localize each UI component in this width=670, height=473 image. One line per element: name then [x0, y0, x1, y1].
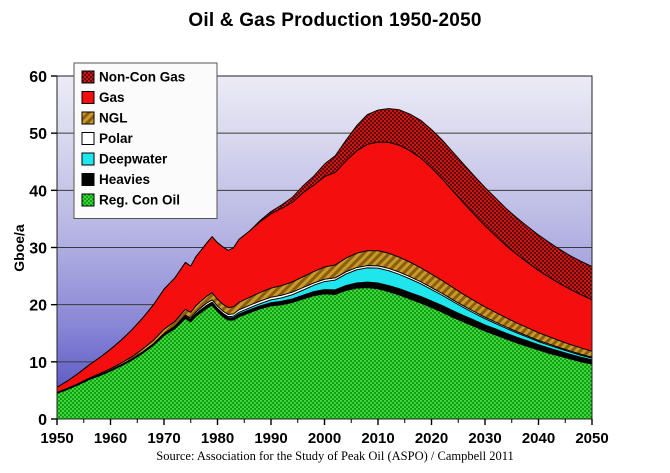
- x-axis-tick-label: 1990: [254, 430, 287, 447]
- legend-item[interactable]: Gas: [82, 90, 125, 105]
- y-axis-title: Gboe/a: [11, 224, 27, 272]
- legend-swatch-non-con-gas: [82, 71, 94, 83]
- y-axis-tick-label: 0: [38, 412, 47, 429]
- y-axis-tick-label: 20: [29, 298, 47, 315]
- x-axis-tick-label: 2000: [308, 430, 341, 447]
- plot-area: 0102030405060 19501960197019801990200020…: [0, 0, 670, 473]
- legend: Non-Con GasGasNGLPolarDeepwaterHeaviesRe…: [74, 63, 217, 219]
- legend-swatch-heavies: [82, 174, 94, 186]
- legend-item[interactable]: Polar: [82, 131, 134, 146]
- legend-swatch-reg-con-oil: [82, 194, 94, 206]
- y-axis-tick-label: 10: [29, 355, 47, 372]
- legend-label: Non-Con Gas: [99, 70, 185, 85]
- x-axis-tick-label: 2050: [575, 430, 608, 447]
- legend-label: Reg. Con Oil: [99, 193, 180, 208]
- legend-item[interactable]: NGL: [82, 111, 128, 126]
- y-axis-tick-label: 40: [29, 183, 47, 200]
- legend-swatch-deepwater: [82, 153, 94, 165]
- x-axis-tick-label: 1970: [147, 430, 180, 447]
- x-axis-tick-labels: 1950196019701980199020002010202020302040…: [40, 430, 608, 447]
- y-axis-tick-labels: 0102030405060: [29, 69, 47, 429]
- legend-item[interactable]: Heavies: [82, 172, 150, 187]
- y-axis-tick-label: 50: [29, 126, 47, 143]
- legend-label: Heavies: [99, 172, 150, 187]
- x-axis-tick-label: 2010: [361, 430, 394, 447]
- legend-swatch-polar: [82, 133, 94, 145]
- x-axis-tick-label: 1980: [201, 430, 234, 447]
- legend-swatch-gas: [82, 92, 94, 104]
- y-axis-tick-label: 30: [29, 241, 47, 258]
- chart-root: Oil & Gas Production 1950-2050: [0, 0, 670, 473]
- legend-label: Polar: [99, 131, 134, 146]
- x-axis-tick-label: 1950: [40, 430, 73, 447]
- legend-label: Gas: [99, 90, 125, 105]
- legend-swatch-ngl: [82, 112, 94, 124]
- x-axis-tick-label: 2020: [415, 430, 448, 447]
- x-axis-tick-label: 2040: [522, 430, 555, 447]
- y-axis-tick-label: 60: [29, 69, 47, 86]
- x-axis-tick-label: 1960: [94, 430, 127, 447]
- chart-svg: 0102030405060 19501960197019801990200020…: [0, 0, 670, 473]
- source-caption: Source: Association for the Study of Pea…: [0, 449, 670, 464]
- legend-label: Deepwater: [99, 152, 168, 167]
- x-axis-tick-label: 2030: [468, 430, 501, 447]
- legend-label: NGL: [99, 111, 128, 126]
